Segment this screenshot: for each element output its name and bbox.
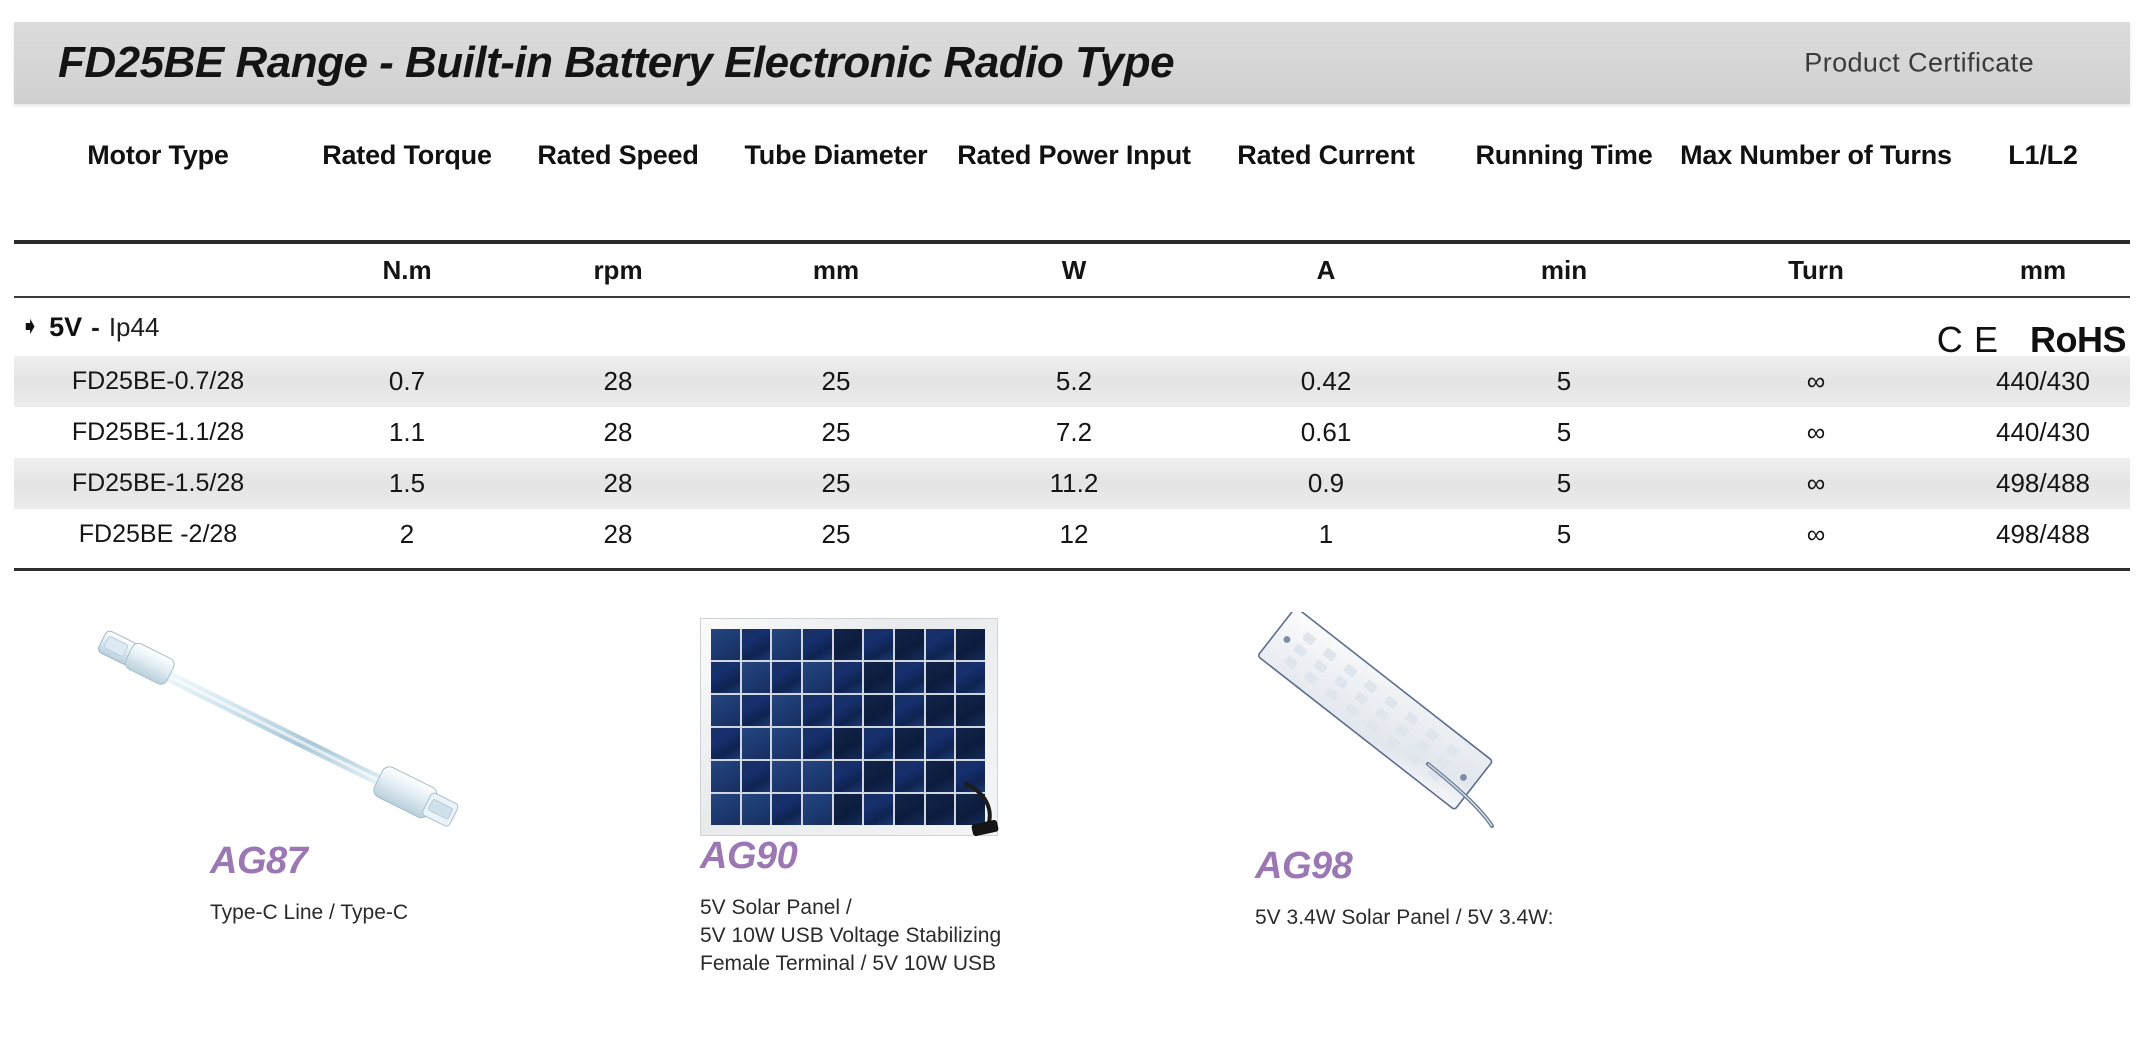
unit-rated-speed: rpm	[512, 255, 724, 286]
cell-rated-current: 1	[1200, 519, 1452, 550]
cell-rated-speed: 28	[512, 519, 724, 550]
cell-l1-l2: 440/430	[1956, 417, 2130, 448]
cell-running-time: 5	[1452, 468, 1676, 499]
column-header-rated-speed: Rated Speed	[512, 140, 724, 171]
unit-running-time: min	[1452, 255, 1676, 286]
cell-max-turns: ∞	[1676, 366, 1956, 397]
cell-model: FD25BE-1.5/28	[14, 469, 302, 498]
cell-tube-diameter: 25	[724, 366, 948, 397]
accessory-text-ag98: AG98 5V 3.4W Solar Panel / 5V 3.4W:	[1255, 845, 1775, 932]
column-header-rated-current: Rated Current	[1200, 140, 1452, 171]
unit-rated-torque: N.m	[302, 255, 512, 286]
table-row: FD25BE -2/28 2 28 25 12 1 5 ∞ 498/488	[14, 509, 2130, 560]
cell-rated-torque: 1.1	[302, 417, 512, 448]
cell-rated-torque: 2	[302, 519, 512, 550]
cell-l1-l2: 498/488	[1956, 519, 2130, 550]
cell-model: FD25BE -2/28	[14, 520, 302, 549]
cell-rated-power-input: 5.2	[948, 366, 1200, 397]
cell-running-time: 5	[1452, 519, 1676, 550]
cell-rated-speed: 28	[512, 468, 724, 499]
rohs-mark-icon: RoHS	[2030, 322, 2126, 358]
cell-max-turns: ∞	[1676, 519, 1956, 550]
cell-l1-l2: 498/488	[1956, 468, 2130, 499]
cell-running-time: 5	[1452, 366, 1676, 397]
column-header-rated-power-input: Rated Power Input	[948, 140, 1200, 171]
column-header-max-number-of-turns: Max Number of Turns	[1676, 140, 1956, 171]
strip-solar-panel-image	[1230, 612, 1650, 842]
cell-rated-power-input: 11.2	[948, 468, 1200, 499]
column-header-tube-diameter: Tube Diameter	[724, 140, 948, 171]
unit-max-number-of-turns: Turn	[1676, 255, 1956, 286]
cell-model: FD25BE-0.7/28	[14, 367, 302, 396]
column-header-l1-l2: L1/L2	[1956, 140, 2130, 171]
cell-rated-power-input: 12	[948, 519, 1200, 550]
group-ip-rating: Ip44	[109, 312, 160, 343]
table-row: FD25BE-1.5/28 1.5 28 25 11.2 0.9 5 ∞ 498…	[14, 458, 2130, 509]
arrow-pointer-icon: ➧	[20, 315, 40, 339]
group-separator: -	[91, 312, 100, 343]
cell-tube-diameter: 25	[724, 417, 948, 448]
cell-rated-power-input: 7.2	[948, 417, 1200, 448]
cell-tube-diameter: 25	[724, 468, 948, 499]
accessory-code: AG98	[1255, 845, 1775, 888]
table-row: FD25BE-0.7/28 0.7 28 25 5.2 0.42 5 ∞ 440…	[14, 356, 2130, 407]
cell-model: FD25BE-1.1/28	[14, 418, 302, 447]
cell-rated-torque: 0.7	[302, 366, 512, 397]
table-rule-bottom	[14, 568, 2130, 571]
cell-rated-current: 0.42	[1200, 366, 1452, 397]
unit-rated-current: A	[1200, 255, 1452, 286]
table-header-row: Motor Type Rated Torque Rated Speed Tube…	[14, 124, 2130, 186]
accessory-item-ag98: AG98 5V 3.4W Solar Panel / 5V 3.4W:	[0, 600, 2144, 1020]
column-header-running-time: Running Time	[1452, 140, 1676, 171]
cell-l1-l2: 440/430	[1956, 366, 2130, 397]
product-certificate-label: Product Certificate	[1804, 48, 2034, 79]
cell-rated-speed: 28	[512, 417, 724, 448]
group-row-voltage: ➧ 5V - Ip44 C E RoHS	[14, 298, 2130, 356]
cell-max-turns: ∞	[1676, 417, 1956, 448]
unit-tube-diameter: mm	[724, 255, 948, 286]
specification-table: Motor Type Rated Torque Rated Speed Tube…	[14, 124, 2130, 571]
cell-tube-diameter: 25	[724, 519, 948, 550]
table-units-row: N.m rpm mm W A min Turn mm	[14, 244, 2130, 296]
unit-rated-power-input: W	[948, 255, 1200, 286]
column-header-motor-type: Motor Type	[14, 140, 302, 171]
group-label: ➧ 5V - Ip44	[14, 312, 159, 343]
column-header-rated-torque: Rated Torque	[302, 140, 512, 171]
group-voltage-value: 5V	[49, 312, 82, 343]
accessory-description: 5V 3.4W Solar Panel / 5V 3.4W:	[1255, 904, 1775, 932]
table-row: FD25BE-1.1/28 1.1 28 25 7.2 0.61 5 ∞ 440…	[14, 407, 2130, 458]
page-header-band: FD25BE Range - Built-in Battery Electron…	[14, 22, 2130, 104]
cell-rated-speed: 28	[512, 366, 724, 397]
unit-l1-l2: mm	[1956, 255, 2130, 286]
cell-rated-current: 0.61	[1200, 417, 1452, 448]
page-title: FD25BE Range - Built-in Battery Electron…	[58, 38, 1174, 88]
certification-marks: C E RoHS	[1937, 322, 2126, 358]
cell-running-time: 5	[1452, 417, 1676, 448]
ce-mark-icon: C E	[1937, 322, 2000, 358]
cell-rated-torque: 1.5	[302, 468, 512, 499]
accessories-section: AG87 Type-C Line / Type-C AG9	[0, 600, 2144, 1020]
cell-max-turns: ∞	[1676, 468, 1956, 499]
cell-rated-current: 0.9	[1200, 468, 1452, 499]
